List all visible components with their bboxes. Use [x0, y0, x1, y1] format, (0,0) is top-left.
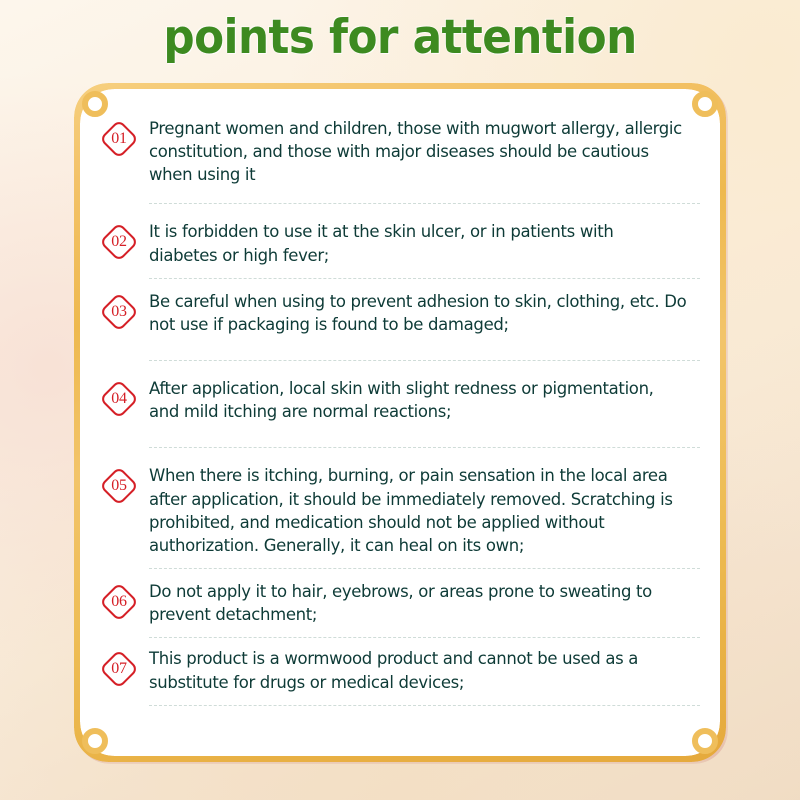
attention-points-list: 01 Pregnant women and children, those wi…	[100, 118, 706, 706]
item-number: 06	[100, 583, 138, 621]
item-number: 04	[100, 380, 138, 418]
item-number-badge: 05	[100, 467, 138, 505]
item-text: It is forbidden to use it at the skin ul…	[149, 221, 687, 267]
item-text: Pregnant women and children, those with …	[149, 118, 687, 187]
item-number: 01	[100, 120, 138, 158]
item-separator	[149, 705, 700, 706]
list-item: 01 Pregnant women and children, those wi…	[100, 118, 706, 187]
item-number: 07	[100, 650, 138, 688]
list-item: 03 Be careful when using to prevent adhe…	[100, 291, 706, 337]
item-number: 05	[100, 467, 138, 505]
item-number-badge: 01	[100, 120, 138, 158]
item-number-badge: 04	[100, 380, 138, 418]
item-number: 02	[100, 223, 138, 261]
item-text: This product is a wormwood product and c…	[149, 648, 687, 694]
list-item: 04 After application, local skin with sl…	[100, 378, 706, 424]
list-item: 05 When there is itching, burning, or pa…	[100, 465, 706, 558]
item-text: After application, local skin with sligh…	[149, 378, 687, 424]
page-title: points for attention	[28, 10, 772, 65]
item-number-badge: 07	[100, 650, 138, 688]
item-number-badge: 03	[100, 293, 138, 331]
list-item: 06 Do not apply it to hair, eyebrows, or…	[100, 581, 706, 627]
item-number-badge: 02	[100, 223, 138, 261]
item-number: 03	[100, 293, 138, 331]
list-item: 02 It is forbidden to use it at the skin…	[100, 221, 706, 267]
item-text: When there is itching, burning, or pain …	[149, 465, 687, 558]
item-text: Do not apply it to hair, eyebrows, or ar…	[149, 581, 687, 627]
item-text: Be careful when using to prevent adhesio…	[149, 291, 687, 337]
list-item: 07 This product is a wormwood product an…	[100, 648, 706, 694]
item-number-badge: 06	[100, 583, 138, 621]
